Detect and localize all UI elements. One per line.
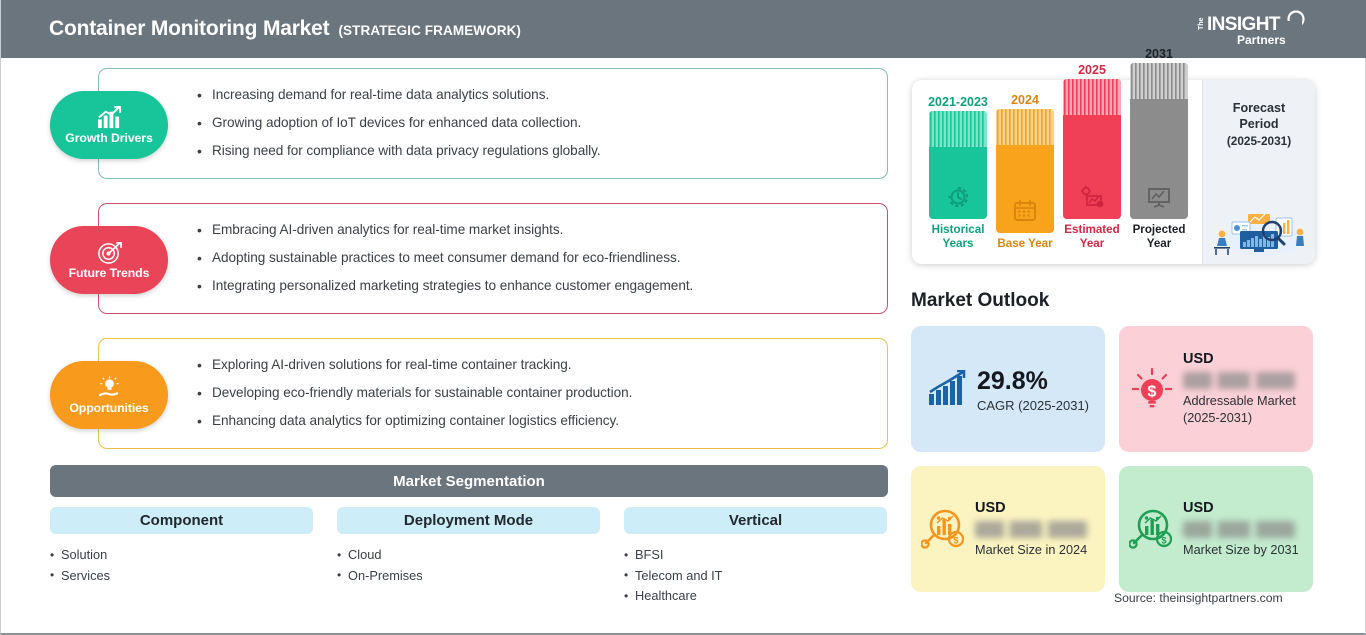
svg-text:Partners: Partners: [1237, 33, 1286, 47]
svg-text:$: $: [953, 536, 958, 546]
card-caption: Addressable Market (2025-2031): [1183, 393, 1303, 427]
timeline-bars: 2021-2023: [912, 80, 1202, 264]
lightbulb-dollar-icon: $: [1129, 366, 1175, 412]
growth-drivers-badge[interactable]: Growth Drivers: [50, 91, 168, 159]
segmentation-header: Market Segmentation: [50, 465, 888, 497]
list-item: On-Premises: [337, 566, 600, 587]
future-trends-label: Future Trends: [69, 266, 150, 280]
segmentation-column-deployment-mode: Deployment Mode Cloud On-Premises: [337, 507, 600, 607]
card-caption: Market Size by 2031: [1183, 542, 1299, 559]
timeline-bar-projected: 2031: [1130, 47, 1188, 250]
list-item: Solution: [50, 545, 313, 566]
opportunities-box: Exploring AI-driven solutions for real-t…: [98, 338, 888, 449]
hidden-value-placeholder: [975, 521, 1087, 538]
card-cagr: 29.8% CAGR (2025-2031): [911, 326, 1105, 452]
column-header-deployment-mode: Deployment Mode: [337, 507, 600, 534]
market-segmentation: Market Segmentation Component Solution S…: [1, 465, 901, 615]
page-title: Container Monitoring Market: [49, 17, 329, 41]
card-caption: Market Size in 2024: [975, 542, 1087, 559]
list-item: Developing eco-friendly materials for su…: [197, 379, 887, 407]
svg-text:$: $: [1161, 536, 1166, 546]
forecast-timeline-card: 2021-2023: [912, 80, 1315, 264]
bar-chart-growth-icon: [96, 105, 123, 130]
source-label: Source: theinsightpartners.com: [1114, 591, 1283, 605]
svg-text:The: The: [1198, 17, 1205, 30]
monitor-chart-icon: [1146, 185, 1172, 209]
addressable-market-text: USD Addressable Market (2025-2031): [1183, 351, 1303, 427]
section-growth-drivers: Increasing demand for real-time data ana…: [1, 68, 901, 193]
forecast-period-range: (2025-2031): [1203, 134, 1315, 148]
future-trends-box: Embracing AI-driven analytics for real-t…: [98, 203, 888, 314]
bar-caption: Historical Years: [929, 223, 987, 250]
list-item: BFSI: [624, 545, 887, 566]
list-item: Integrating personalized marketing strat…: [197, 272, 887, 300]
opportunities-label: Opportunities: [69, 401, 148, 415]
market-outlook-title: Market Outlook: [911, 290, 1049, 312]
cagr-value: 29.8%: [977, 366, 1089, 396]
section-future-trends: Embracing AI-driven analytics for real-t…: [1, 203, 901, 328]
future-trends-bullets: Embracing AI-driven analytics for real-t…: [197, 216, 887, 300]
segmentation-column-vertical: Vertical BFSI Telecom and IT Healthcare: [624, 507, 887, 607]
bar-stripes: [1063, 79, 1121, 115]
bar-year-label: 2031: [1145, 47, 1173, 61]
timeline-bar-base: 2024: [996, 93, 1054, 251]
list-item: Services: [50, 566, 313, 587]
bar-year-label: 2025: [1078, 63, 1106, 77]
left-column: Increasing demand for real-time data ana…: [1, 58, 901, 615]
bar-caption: Estimated Year: [1063, 223, 1121, 250]
forecast-title: Forecast Period: [1203, 80, 1315, 132]
cagr-caption: CAGR (2025-2031): [977, 398, 1089, 413]
data-analytics-illustration: [1208, 198, 1311, 258]
calendar-icon: [1012, 199, 1038, 223]
list-item: Embracing AI-driven analytics for real-t…: [197, 216, 887, 244]
insight-partners-logo: The INSIGHT Partners: [1193, 8, 1311, 50]
bar-year-label: 2024: [1011, 93, 1039, 107]
hand-lightbulb-icon: [96, 375, 123, 400]
list-item: Telecom and IT: [624, 566, 887, 587]
growth-drivers-box: Increasing demand for real-time data ana…: [98, 68, 888, 179]
segmentation-column-component: Component Solution Services: [50, 507, 313, 607]
list-item: Enhancing data analytics for optimizing …: [197, 407, 887, 435]
market-size-2024-text: USD Market Size in 2024: [975, 500, 1087, 559]
bar-body: [1130, 63, 1188, 219]
list-item: Adopting sustainable practices to meet c…: [197, 244, 887, 272]
list-item: Healthcare: [624, 586, 887, 607]
header-title-group: Container Monitoring Market (STRATEGIC F…: [49, 17, 521, 41]
market-size-2031-text: USD Market Size by 2031: [1183, 500, 1299, 559]
growth-drivers-label: Growth Drivers: [65, 131, 152, 145]
column-header-vertical: Vertical: [624, 507, 887, 534]
usd-label: USD: [1183, 500, 1299, 516]
bar-body: [1063, 79, 1121, 219]
hidden-value-placeholder: [1183, 521, 1295, 538]
section-opportunities: Exploring AI-driven solutions for real-t…: [1, 338, 901, 463]
forecast-chart-icon: [1079, 185, 1105, 209]
growth-bar-chart-icon: [927, 370, 969, 408]
card-market-size-2024: $ USD Market Size in 2024: [911, 466, 1105, 592]
column-header-component: Component: [50, 507, 313, 534]
card-market-size-2031: $ USD Market Size by 2031: [1119, 466, 1313, 592]
column-header-label: Vertical: [729, 512, 782, 529]
forecast-title-line2: Period: [1239, 117, 1278, 131]
svg-text:INSIGHT: INSIGHT: [1207, 14, 1281, 35]
segmentation-columns: Component Solution Services Deployment M…: [50, 507, 888, 607]
bar-body: [996, 109, 1054, 233]
timeline-bar-historical: 2021-2023: [929, 95, 987, 250]
usd-label: USD: [1183, 351, 1303, 367]
magnifier-bar-chart-dollar-icon: $: [1129, 506, 1175, 552]
svg-text:$: $: [1148, 384, 1157, 401]
opportunities-bullets: Exploring AI-driven solutions for real-t…: [197, 351, 887, 435]
column-items-component: Solution Services: [50, 545, 313, 586]
usd-label: USD: [975, 500, 1087, 516]
list-item: Increasing demand for real-time data ana…: [197, 81, 887, 109]
future-trends-badge[interactable]: Future Trends: [50, 226, 168, 294]
forecast-title-line1: Forecast: [1233, 101, 1286, 115]
forecast-period-panel: Forecast Period (2025-2031): [1202, 80, 1315, 264]
bar-body: [929, 111, 987, 219]
market-outlook-cards: 29.8% CAGR (2025-2031) $ USD: [911, 326, 1324, 592]
page-subtitle: (STRATEGIC FRAMEWORK): [338, 23, 521, 38]
bar-caption: Projected Year: [1130, 223, 1188, 250]
list-item: Rising need for compliance with data pri…: [197, 137, 887, 165]
bar-stripes: [1130, 63, 1188, 99]
bar-year-label: 2021-2023: [928, 95, 988, 109]
clock-history-icon: [945, 185, 971, 209]
magnifier-bar-chart-dollar-icon: $: [921, 506, 967, 552]
list-item: Cloud: [337, 545, 600, 566]
infographic-page: Container Monitoring Market (STRATEGIC F…: [0, 0, 1366, 635]
hidden-value-placeholder: [1183, 372, 1295, 389]
bar-caption: Base Year: [997, 237, 1052, 251]
list-item: Exploring AI-driven solutions for real-t…: [197, 351, 887, 379]
card-addressable-market: $ USD Addressable Market (2025-2031): [1119, 326, 1313, 452]
bar-stripes: [996, 109, 1054, 145]
bar-stripes: [929, 111, 987, 147]
column-items-deployment-mode: Cloud On-Premises: [337, 545, 600, 586]
segmentation-title: Market Segmentation: [393, 473, 545, 490]
target-dart-icon: [96, 240, 123, 265]
cagr-text: 29.8% CAGR (2025-2031): [977, 366, 1089, 413]
column-header-label: Component: [140, 512, 223, 529]
list-item: Growing adoption of IoT devices for enha…: [197, 109, 887, 137]
growth-drivers-bullets: Increasing demand for real-time data ana…: [197, 81, 887, 165]
timeline-bar-estimated: 2025: [1063, 63, 1121, 250]
column-items-vertical: BFSI Telecom and IT Healthcare: [624, 545, 887, 607]
column-header-label: Deployment Mode: [404, 512, 533, 529]
opportunities-badge[interactable]: Opportunities: [50, 361, 168, 429]
